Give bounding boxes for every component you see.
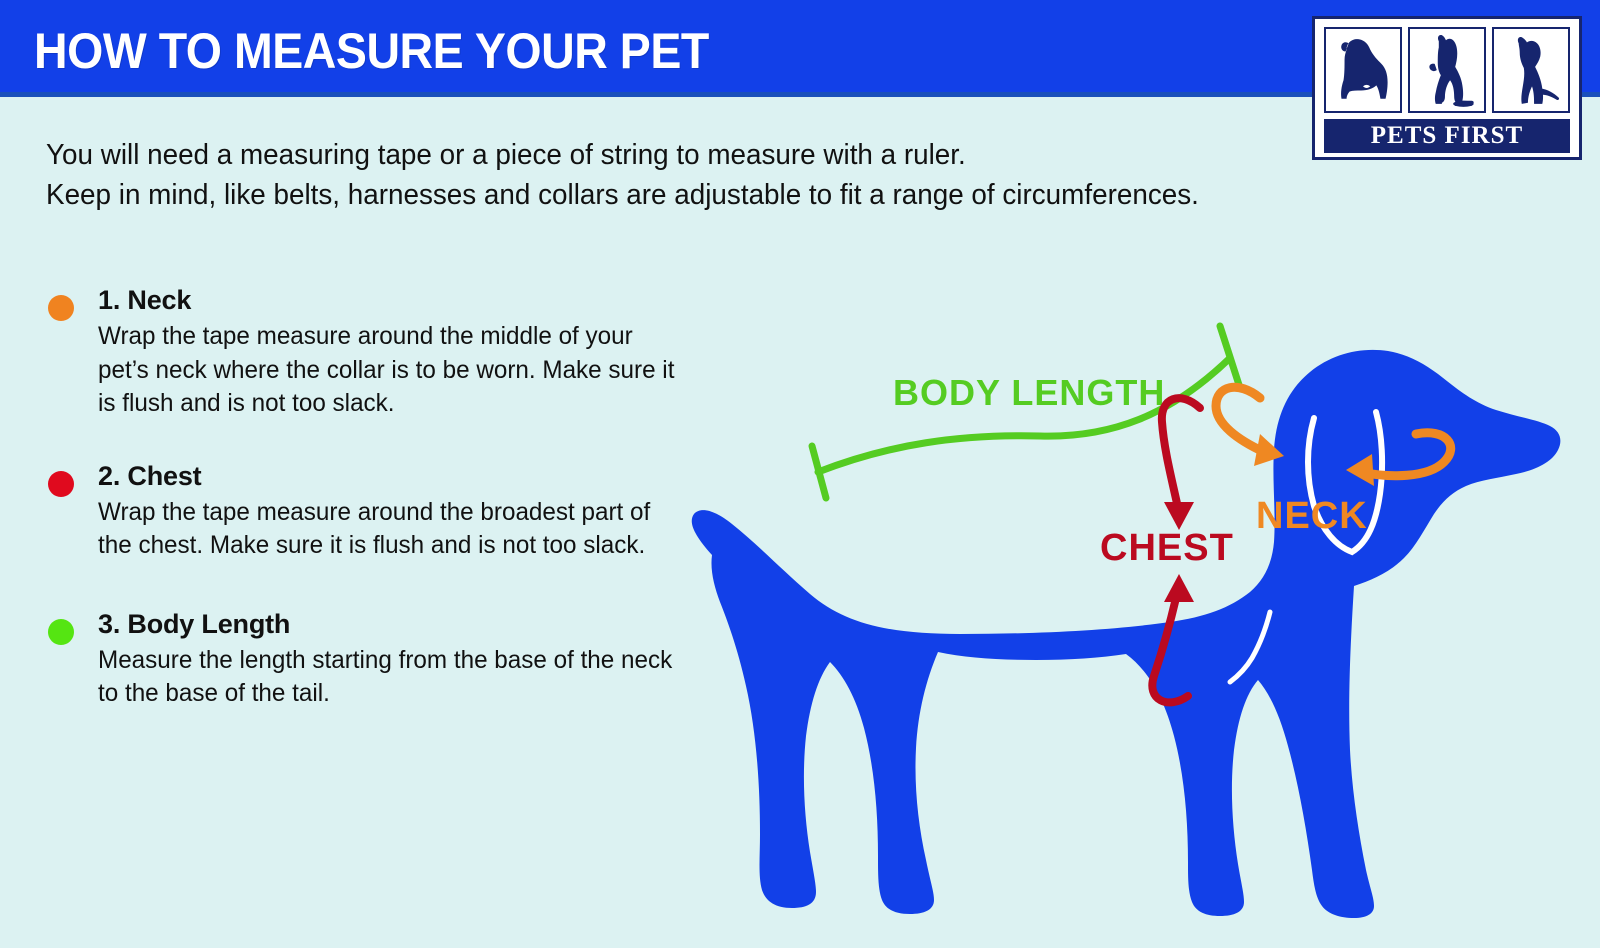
pets-first-logo: PETS FIRST (1312, 16, 1582, 160)
page-title: HOW TO MEASURE YOUR PET (34, 22, 709, 80)
logo-wordmark: PETS FIRST (1324, 119, 1570, 153)
intro-line-2: Keep in mind, like belts, harnesses and … (46, 175, 1179, 215)
dog-sitting-paw-up-icon (1408, 27, 1486, 113)
chest-arrow-up-icon (1164, 574, 1194, 602)
bullet-neck-icon (48, 295, 74, 321)
step-description-body-length: Measure the length starting from the bas… (98, 644, 688, 711)
measurement-steps-list: 1. Neck Wrap the tape measure around the… (46, 285, 706, 745)
chest-label: CHEST (1100, 527, 1234, 569)
list-item-chest: 2. Chest Wrap the tape measure around th… (46, 461, 706, 563)
list-item-body-length: 3. Body Length Measure the length starti… (46, 609, 706, 711)
step-title-body-length: 3. Body Length (98, 609, 706, 640)
step-title-neck: 1. Neck (98, 285, 706, 316)
logo-panels (1324, 27, 1570, 113)
list-item-neck: 1. Neck Wrap the tape measure around the… (46, 285, 706, 421)
bullet-chest-icon (48, 471, 74, 497)
dog-lying-icon (1324, 27, 1402, 113)
dog-sitting-icon (1492, 27, 1570, 113)
step-description-chest: Wrap the tape measure around the broades… (98, 496, 688, 563)
body-length-label: BODY LENGTH (893, 372, 1165, 413)
neck-label: NECK (1256, 495, 1368, 537)
intro-line-1: You will need a measuring tape or a piec… (46, 135, 1179, 175)
step-description-neck: Wrap the tape measure around the middle … (98, 320, 688, 421)
dog-measurement-diagram: BODY LENGTH NECK CHEST (660, 230, 1600, 930)
intro-text: You will need a measuring tape or a piec… (46, 135, 1179, 215)
step-title-chest: 2. Chest (98, 461, 706, 492)
chest-arrow-down-icon (1164, 502, 1194, 530)
body-length-measure-annotation: BODY LENGTH (812, 326, 1240, 498)
bullet-body-length-icon (48, 619, 74, 645)
infographic-page: HOW TO MEASURE YOUR PET (0, 0, 1600, 948)
